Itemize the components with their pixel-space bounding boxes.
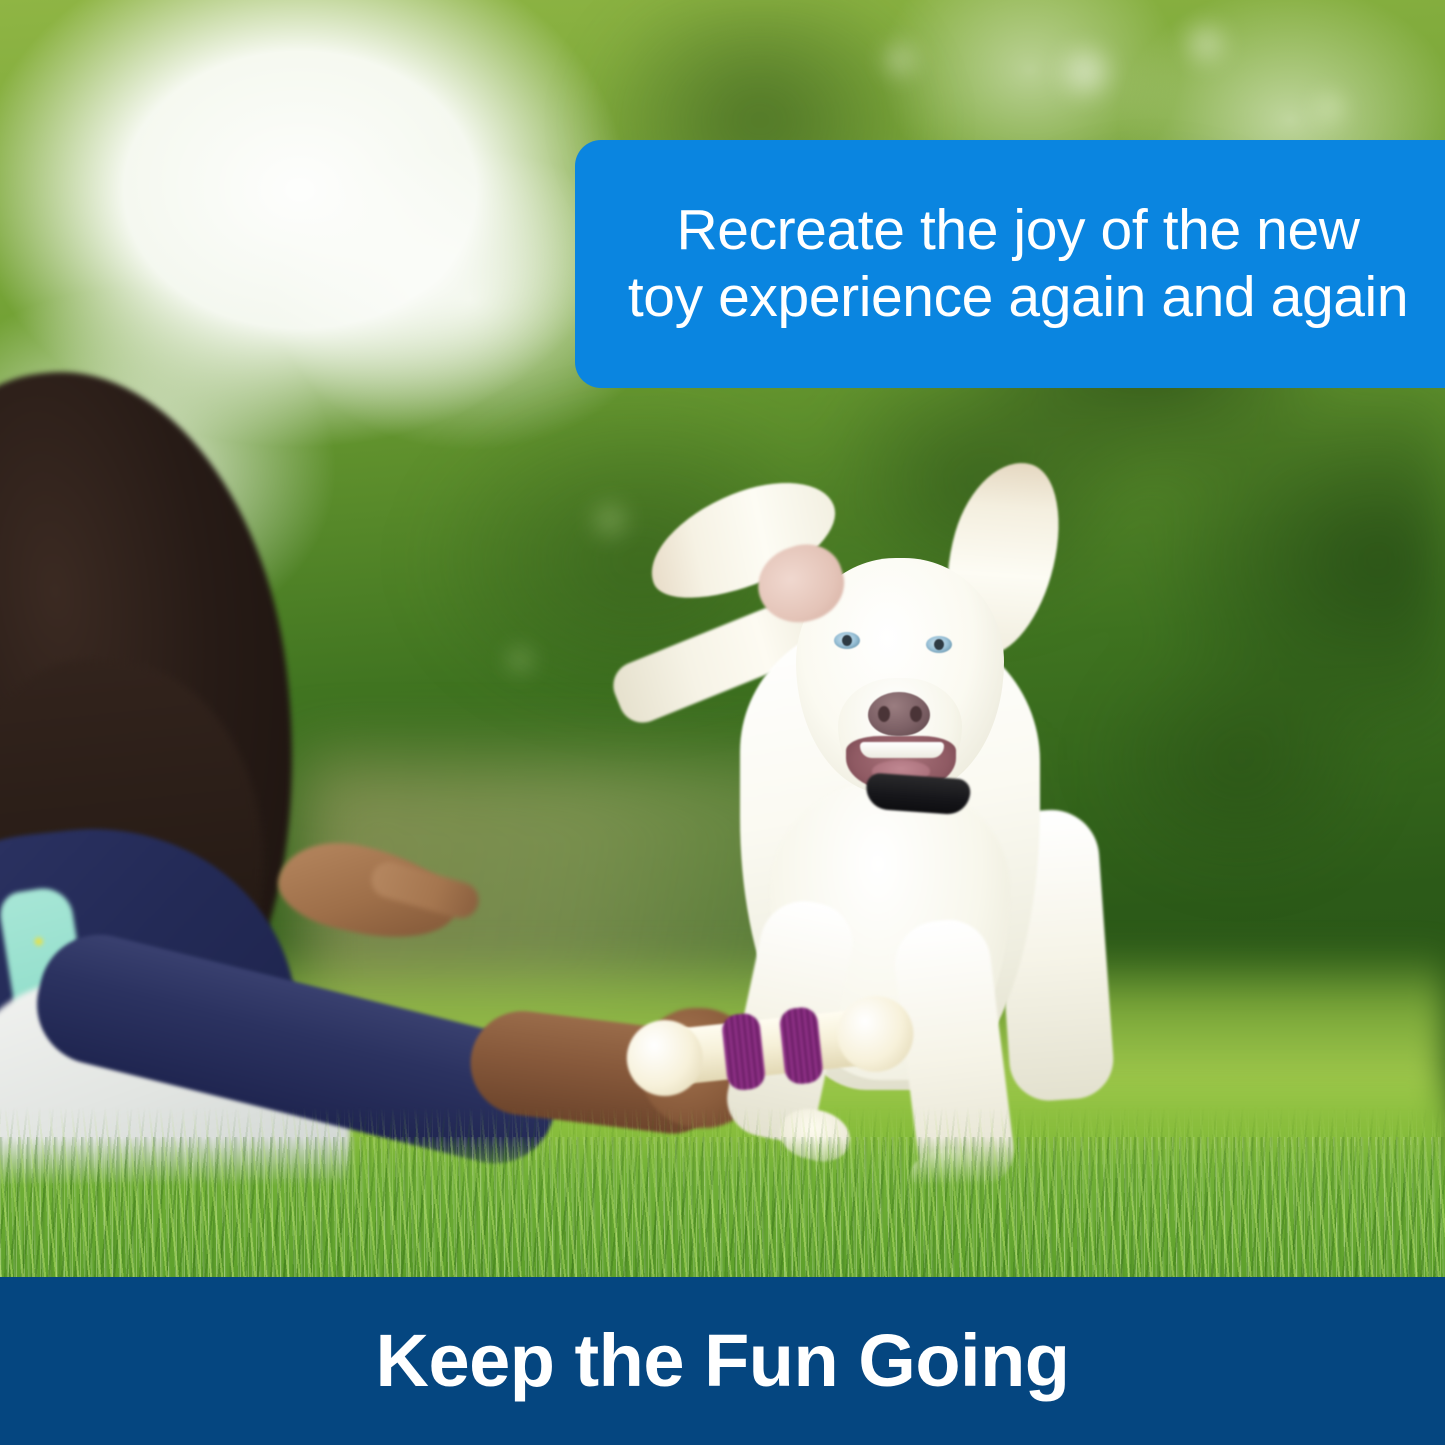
poster: Recreate the joy of the new toy experien… (0, 0, 1445, 1445)
headline-callout-box: Recreate the joy of the new toy experien… (575, 140, 1445, 388)
hero-photo: Recreate the joy of the new toy experien… (0, 0, 1445, 1277)
dog-pupil-left (842, 635, 852, 646)
banner-title: Keep the Fun Going (376, 1324, 1070, 1398)
callout-line-2: toy experience again and again (628, 264, 1408, 331)
toy-purple-ring-2 (778, 1006, 824, 1086)
grass-blade-detail (0, 1107, 1445, 1277)
dog-nostril-right (910, 706, 922, 722)
dog-teeth (860, 742, 944, 758)
toy-purple-ring-1 (721, 1012, 767, 1092)
callout-line-1: Recreate the joy of the new (676, 197, 1359, 264)
bottom-banner: Keep the Fun Going (0, 1277, 1445, 1445)
dog-nostril-left (878, 706, 890, 722)
dog-pupil-right (934, 639, 944, 650)
